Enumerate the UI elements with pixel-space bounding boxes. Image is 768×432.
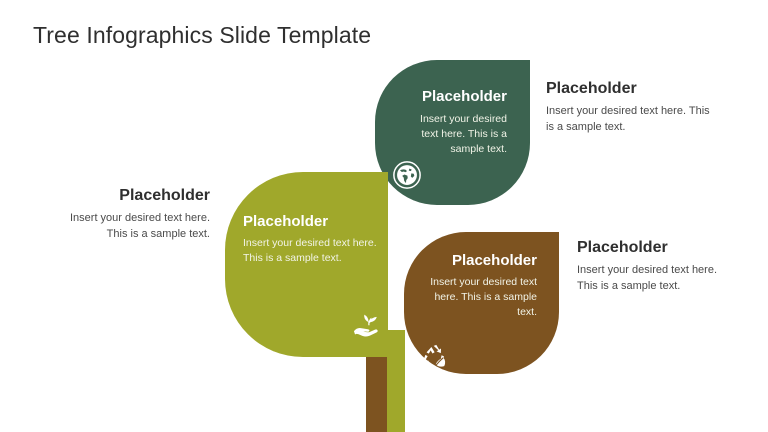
- recycle-leaf-icon: [419, 343, 451, 375]
- tree-stem-olive: [387, 330, 405, 432]
- text-block-mid-left-body: Insert your desired text here. This is a…: [50, 211, 210, 243]
- leaf-green-body: Insert your desired text here. This is a…: [401, 112, 507, 157]
- leaf-olive-title: Placeholder: [243, 213, 328, 231]
- hand-plant-icon: [351, 308, 385, 338]
- text-block-bottom-right-title: Placeholder: [577, 238, 722, 257]
- globe-icon: [392, 160, 422, 190]
- leaf-olive-body: Insert your desired text here. This is a…: [243, 236, 383, 266]
- text-block-bottom-right-body: Insert your desired text here. This is a…: [577, 263, 722, 295]
- leaf-green-title: Placeholder: [397, 88, 507, 106]
- leaf-brown-body: Insert your desired text here. This is a…: [427, 275, 537, 320]
- text-block-mid-left: Placeholder Insert your desired text her…: [50, 186, 210, 243]
- text-block-top-right-title: Placeholder: [546, 79, 714, 98]
- text-block-bottom-right: Placeholder Insert your desired text her…: [577, 238, 722, 295]
- leaf-brown-title: Placeholder: [422, 252, 537, 270]
- text-block-mid-left-title: Placeholder: [50, 186, 210, 205]
- text-block-top-right-body: Insert your desired text here. This is a…: [546, 104, 714, 136]
- text-block-top-right: Placeholder Insert your desired text her…: [546, 79, 714, 136]
- slide-canvas: Tree Infographics Slide Template Placeho…: [0, 0, 768, 432]
- page-title: Tree Infographics Slide Template: [33, 22, 371, 49]
